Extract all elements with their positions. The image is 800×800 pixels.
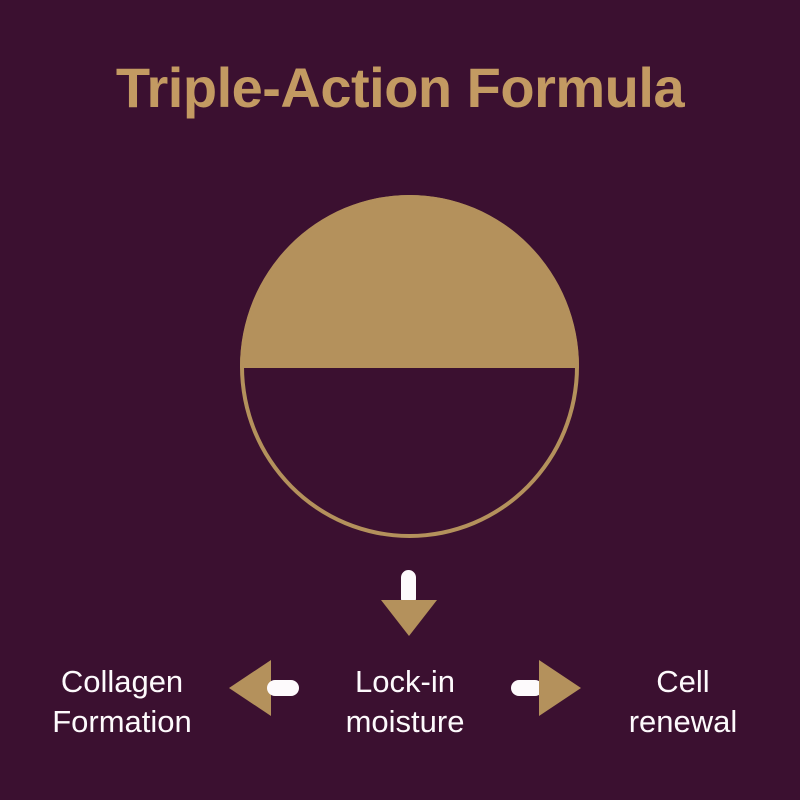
- benefit-collagen-formation: Collagen Formation: [17, 658, 227, 743]
- left-arrow-icon: [227, 660, 305, 716]
- benefit-left-line1: Collagen: [61, 664, 183, 699]
- benefits-row: Collagen Formation Lock-in moisture Cell…: [0, 658, 800, 758]
- page-title: Triple-Action Formula: [0, 57, 800, 119]
- benefit-cell-renewal: Cell renewal: [583, 658, 783, 743]
- benefit-left-line2: Formation: [17, 702, 227, 742]
- benefit-right-line2: renewal: [583, 702, 783, 742]
- infographic-canvas: Triple-Action Formula Collagen Formation…: [0, 0, 800, 800]
- half-filled-circle: [240, 195, 579, 538]
- down-arrow-icon: [381, 570, 437, 636]
- right-arrow-head: [539, 660, 581, 716]
- benefit-right-line1: Cell: [656, 664, 709, 699]
- circle-outline: [240, 195, 579, 538]
- benefit-lock-in-moisture: Lock-in moisture: [305, 658, 505, 743]
- left-arrow-tail: [267, 680, 299, 696]
- left-arrow-head: [229, 660, 271, 716]
- benefit-center-line2: moisture: [305, 702, 505, 742]
- right-arrow-icon: [505, 660, 583, 716]
- benefit-center-line1: Lock-in: [355, 664, 455, 699]
- down-arrow-head: [381, 600, 437, 636]
